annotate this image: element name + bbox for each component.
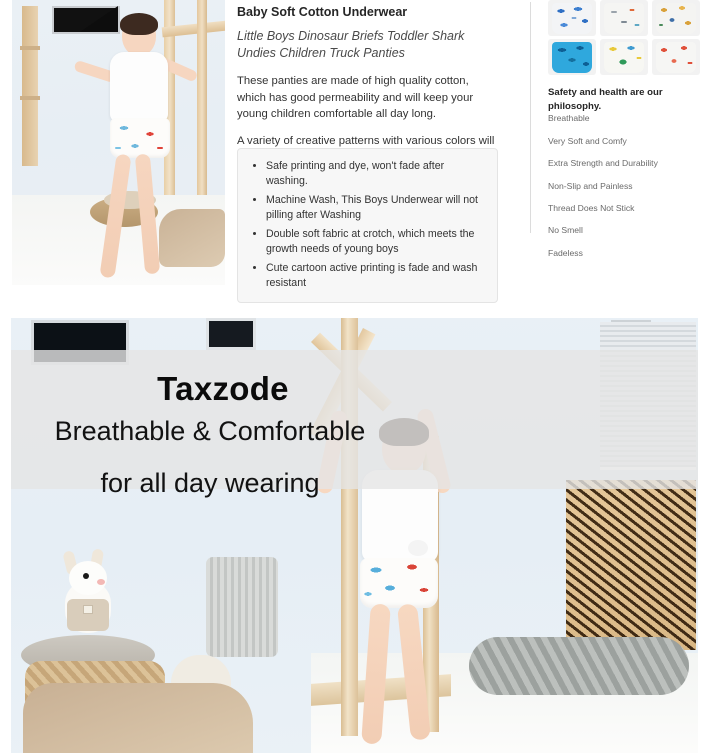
list-item: Breathable bbox=[548, 114, 702, 123]
child-leg-left bbox=[99, 154, 131, 279]
plush-bunny-toy bbox=[53, 559, 125, 645]
variant-thumbnail-construction[interactable] bbox=[652, 0, 700, 36]
product-info-section: Baby Soft Cotton Underwear Little Boys D… bbox=[0, 0, 709, 314]
product-features-box: Safe printing and dye, won't fade after … bbox=[237, 148, 498, 303]
list-item: Fadeless bbox=[548, 249, 702, 258]
variant-thumbnail-yellow-dinosaur[interactable] bbox=[600, 39, 648, 75]
product-title: Baby Soft Cotton Underwear bbox=[237, 4, 499, 21]
list-item: Very Soft and Comfy bbox=[548, 137, 702, 146]
list-item: Extra Strength and Durability bbox=[548, 159, 702, 168]
knitted-floor-cushion bbox=[469, 637, 689, 695]
underwear-swatch bbox=[552, 3, 592, 34]
child-hair bbox=[120, 13, 158, 35]
list-item: Double soft fabric at crotch, which meet… bbox=[266, 227, 487, 258]
underwear-swatch bbox=[656, 42, 696, 73]
variant-thumbnail-grid bbox=[548, 0, 702, 75]
child-printed-underwear bbox=[110, 118, 170, 158]
child-leg-right bbox=[135, 154, 160, 275]
wooden-ladder bbox=[22, 6, 38, 166]
bunny-eye bbox=[83, 573, 89, 579]
list-item: Thread Does Not Stick bbox=[548, 204, 702, 213]
child-printed-underwear bbox=[360, 558, 438, 608]
banner-draped-cloth bbox=[23, 683, 253, 753]
product-subtitle: Little Boys Dinosaur Briefs Toddler Shar… bbox=[237, 28, 499, 63]
banner-wall-art-middle bbox=[206, 318, 256, 350]
sidebar-feature-list: Breathable Very Soft and Comfy Extra Str… bbox=[548, 114, 702, 258]
banner-tagline-line-2: for all day wearing bbox=[11, 468, 409, 499]
child-white-tshirt bbox=[110, 52, 168, 122]
wicker-basket bbox=[206, 557, 278, 657]
tshirt-knot bbox=[408, 540, 428, 556]
underwear-swatch bbox=[604, 3, 644, 34]
bunny-tag bbox=[83, 605, 93, 614]
lifestyle-banner-image[interactable]: Taxzode Breathable & Comfortable for all… bbox=[11, 318, 698, 753]
variant-thumbnail-blue-dinosaur[interactable] bbox=[548, 0, 596, 36]
list-item: Machine Wash, This Boys Underwear will n… bbox=[266, 193, 487, 224]
child-model bbox=[94, 14, 180, 276]
banner-tagline-line-1: Breathable & Comfortable bbox=[11, 416, 409, 447]
child-leg-left bbox=[361, 603, 391, 744]
product-detail-page: Baby Soft Cotton Underwear Little Boys D… bbox=[0, 0, 709, 753]
list-item: Safe printing and dye, won't fade after … bbox=[266, 159, 487, 190]
product-features-list: Safe printing and dye, won't fade after … bbox=[246, 159, 487, 292]
banner-brand-name: Taxzode bbox=[11, 370, 435, 408]
product-variants-sidebar: Safety and health are our philosophy. Br… bbox=[548, 0, 702, 258]
child-leg-right bbox=[397, 603, 431, 740]
variant-thumbnail-blue-shark[interactable] bbox=[548, 39, 596, 75]
underwear-swatch bbox=[656, 3, 696, 34]
product-description-paragraph-1: These panties are made of high quality c… bbox=[237, 73, 499, 123]
bunny-overalls bbox=[67, 599, 109, 631]
bunny-cheek bbox=[97, 579, 105, 585]
hero-product-photo[interactable] bbox=[12, 0, 225, 285]
list-item: No Smell bbox=[548, 226, 702, 235]
variant-thumbnail-red-shark[interactable] bbox=[652, 39, 700, 75]
list-item: Cute cartoon active printing is fade and… bbox=[266, 261, 487, 292]
sidebar-heading: Safety and health are our philosophy. bbox=[548, 86, 702, 113]
decorative-wood-screen bbox=[566, 480, 696, 650]
underwear-swatch bbox=[552, 42, 592, 73]
product-text-column: Baby Soft Cotton Underwear Little Boys D… bbox=[237, 4, 499, 166]
vertical-divider bbox=[530, 2, 531, 233]
list-item: Non-Slip and Painless bbox=[548, 182, 702, 191]
variant-thumbnail-gray-sketch[interactable] bbox=[600, 0, 648, 36]
bed-frame-post-right bbox=[197, 0, 207, 210]
underwear-swatch bbox=[604, 42, 644, 73]
